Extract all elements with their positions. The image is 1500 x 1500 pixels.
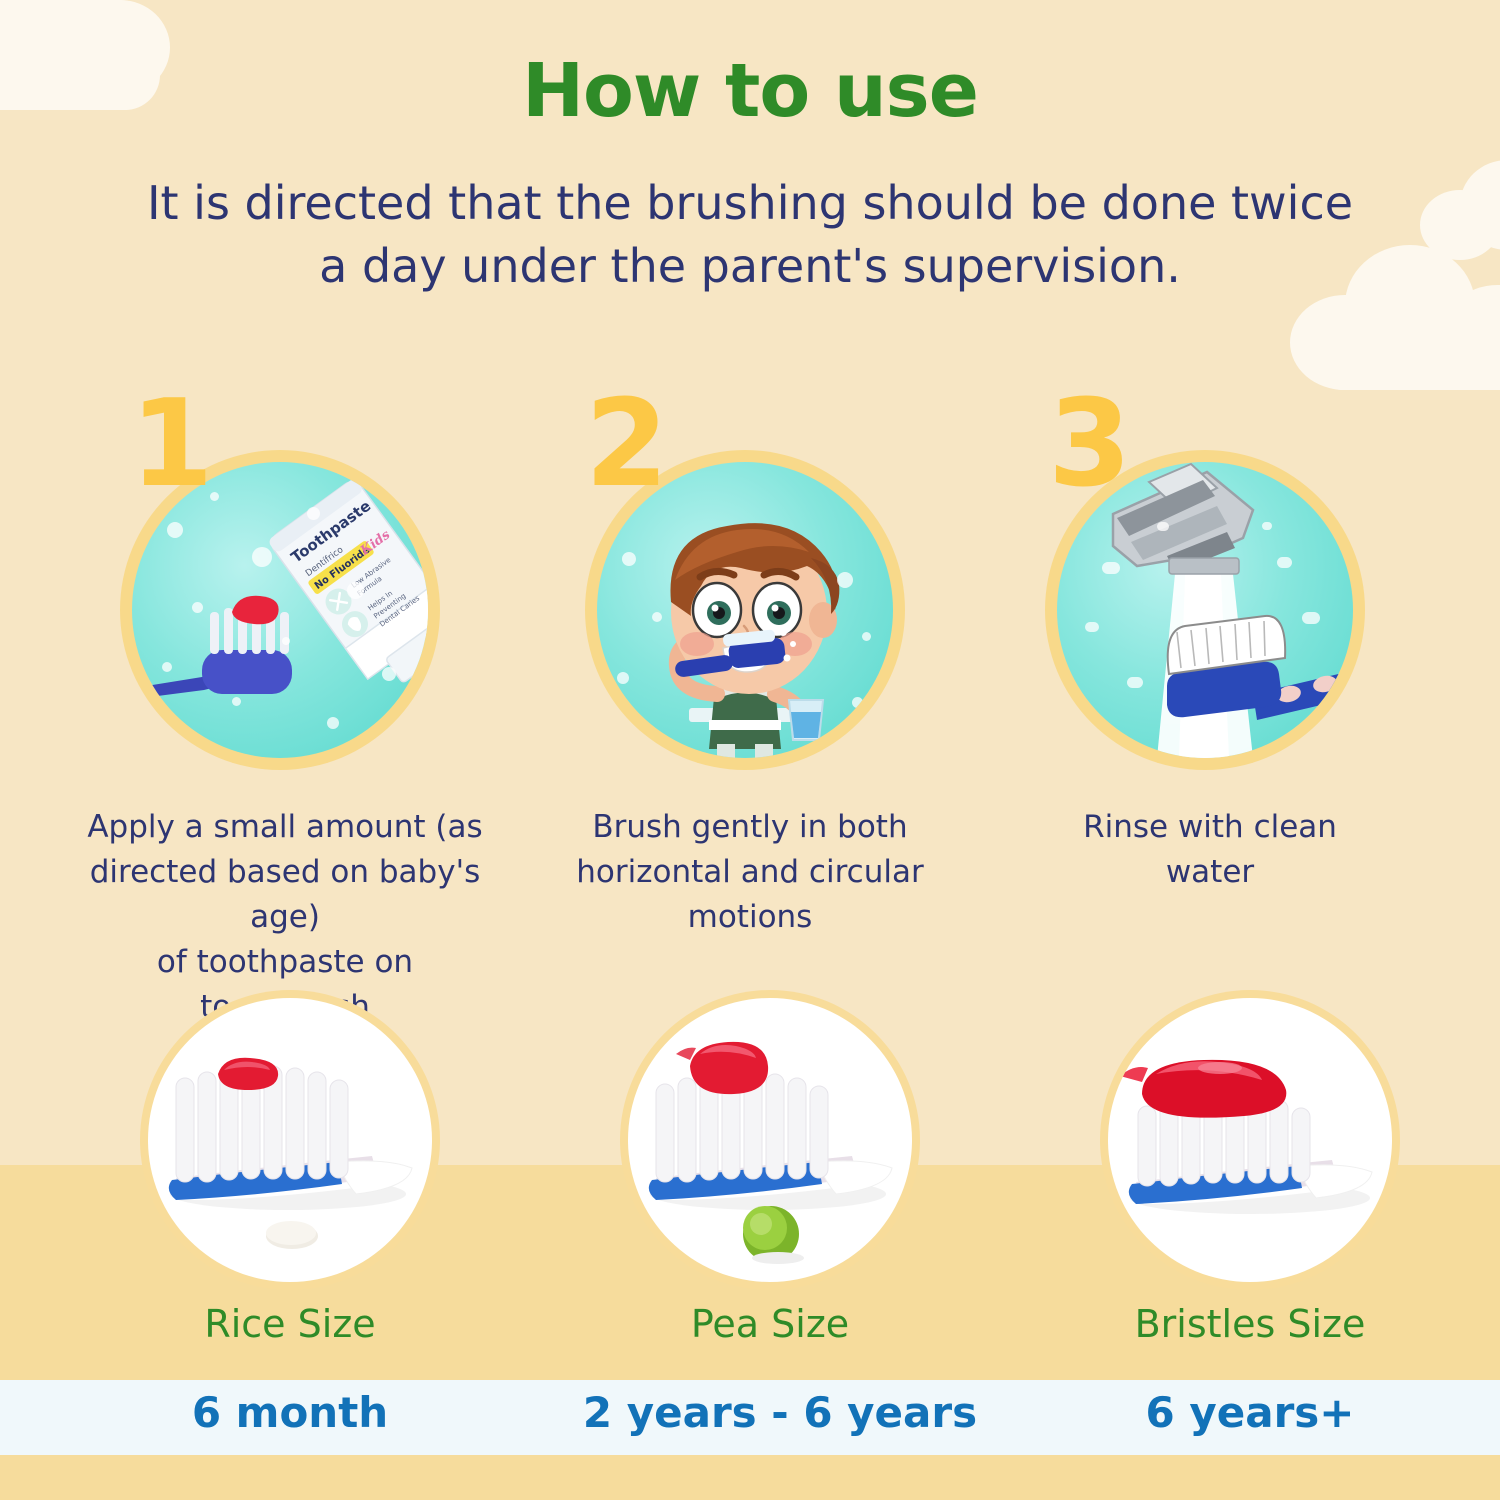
step-2-number: 2: [585, 385, 669, 505]
infographic-page: How to use It is directed that the brush…: [0, 0, 1500, 1500]
toothbrush-rice-amount-icon: [148, 998, 432, 1282]
toothbrush-under-water: [1167, 616, 1351, 720]
step-1-caption-line-1: Apply a small amount (as: [75, 805, 495, 850]
size-2-photo: [628, 998, 912, 1282]
step-1-number: 1: [130, 385, 214, 505]
step-2-caption-line-3: motions: [540, 895, 960, 940]
size-1-photo: [148, 998, 432, 1282]
toothbrush-shape: [140, 596, 292, 698]
size-3-label: Bristles Size: [1070, 1302, 1430, 1346]
size-3-ring: [1100, 990, 1400, 1290]
size-2-label: Pea Size: [590, 1302, 950, 1346]
toothbrush-bristles-amount-icon: [1108, 998, 1392, 1282]
step-2-caption-line-1: Brush gently in both: [540, 805, 960, 850]
step-3-caption-line-2: water: [1000, 850, 1420, 895]
background-band-bottom: [0, 1455, 1500, 1500]
age-label-rice: 6 month: [110, 1388, 470, 1437]
subtitle-line-1: It is directed that the brushing should …: [120, 172, 1380, 235]
size-3-photo: [1108, 998, 1392, 1282]
age-label-pea: 2 years - 6 years: [570, 1388, 990, 1437]
age-label-bristles: 6 years+: [1060, 1388, 1440, 1437]
step-1-caption-line-2: directed based on baby's age): [75, 850, 495, 940]
step-2-caption-line-2: horizontal and circular: [540, 850, 960, 895]
step-3-number: 3: [1048, 385, 1132, 505]
page-subtitle: It is directed that the brushing should …: [120, 172, 1380, 299]
page-title: How to use: [0, 48, 1500, 134]
faucet-shape: [1113, 464, 1253, 574]
cloud-right-lower: [1420, 160, 1500, 270]
step-3-caption: Rinse with clean water: [1000, 805, 1420, 895]
size-2-ring: [620, 990, 920, 1290]
size-1-ring: [140, 990, 440, 1290]
subtitle-line-2: a day under the parent's supervision.: [120, 235, 1380, 298]
toothbrush-pea-amount-icon: [628, 998, 912, 1282]
step-2-caption: Brush gently in both horizontal and circ…: [540, 805, 960, 940]
size-1-label: Rice Size: [110, 1302, 470, 1346]
step-3-caption-line-1: Rinse with clean: [1000, 805, 1420, 850]
